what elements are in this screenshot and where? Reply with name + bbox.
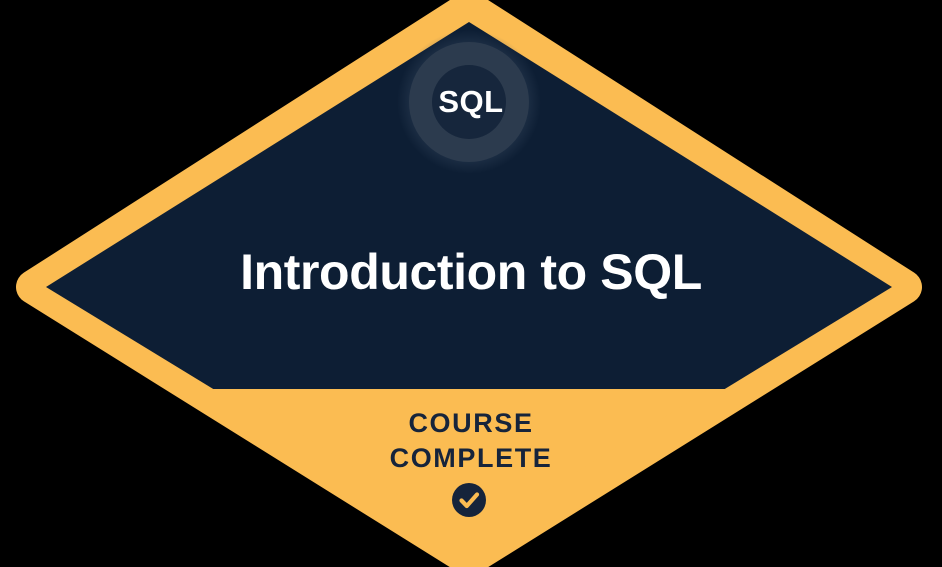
status-label-line-2: COMPLETE <box>0 441 942 475</box>
status-label-line-1: COURSE <box>0 406 942 440</box>
skill-tag-label: SQL <box>0 78 942 126</box>
course-completion-badge[interactable]: SQL Introduction to SQL COURSE COMPLETE <box>0 0 942 567</box>
course-title: Introduction to SQL <box>0 240 942 304</box>
check-circle-icon <box>452 483 486 517</box>
